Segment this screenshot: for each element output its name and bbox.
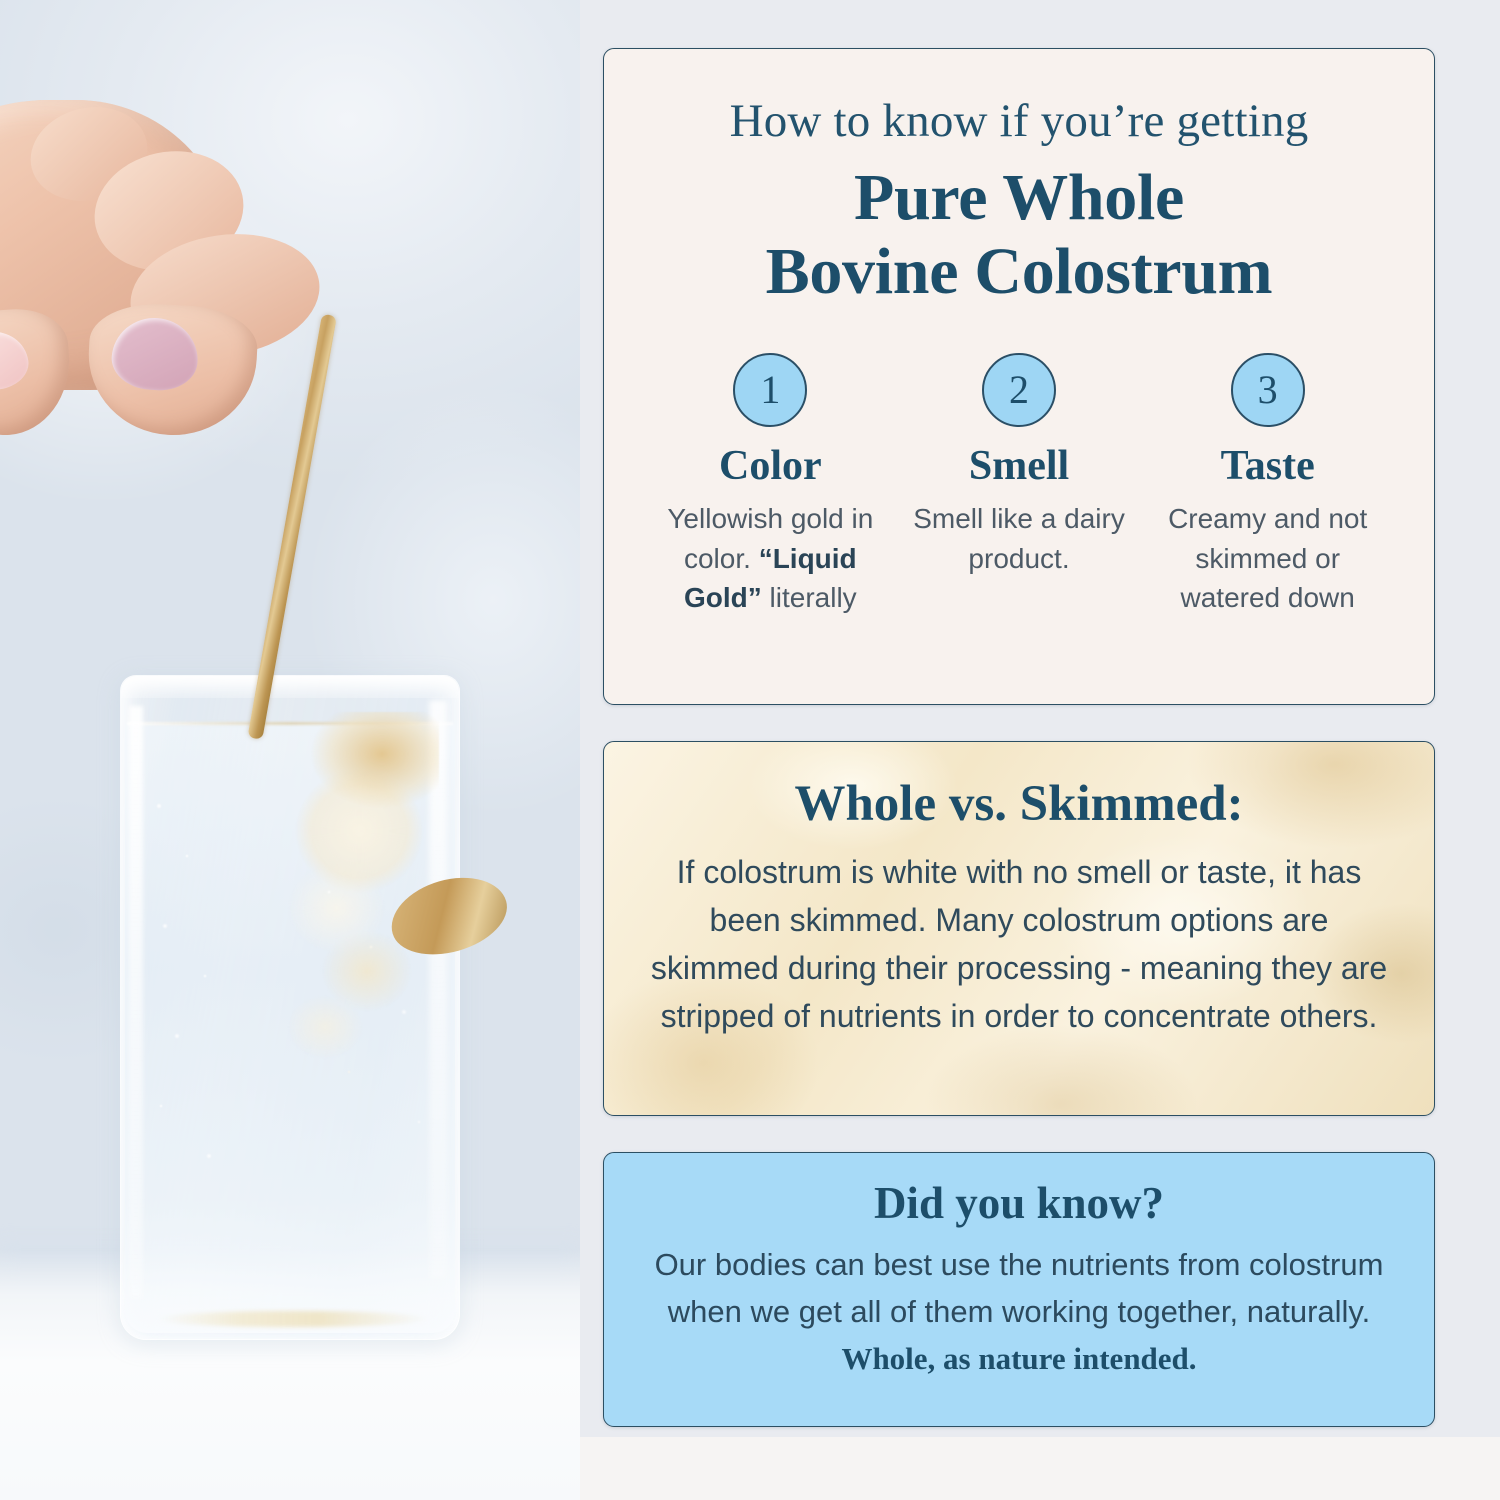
whole-vs-skimmed-title: Whole vs. Skimmed: <box>650 776 1388 832</box>
colostrum-powder-cloud <box>249 712 439 1062</box>
criteria-column-taste: 3 Taste Creamy and not skimmed or watere… <box>1143 353 1392 618</box>
criteria-column-smell: 2 Smell Smell like a dairy product. <box>895 353 1144 618</box>
criteria-body: Smell like a dairy product. <box>905 499 1134 579</box>
info-cards: How to know if you’re getting Pure Whole… <box>603 48 1435 1427</box>
did-you-know-body-pre: Our bodies can best use the nutrients fr… <box>655 1247 1384 1329</box>
criteria-title: Color <box>656 443 885 489</box>
criteria-body: Creamy and not skimmed or watered down <box>1153 499 1382 618</box>
criteria-column-color: 1 Color Yellowish gold in color. “Liquid… <box>646 353 895 618</box>
criteria-body-post: literally <box>762 582 857 613</box>
step-number-badge: 1 <box>733 353 807 427</box>
infographic-page: How to know if you’re getting Pure Whole… <box>0 0 1500 1500</box>
glass-highlight-left <box>129 706 143 1299</box>
glass-rim <box>121 676 459 698</box>
criteria-title: Smell <box>905 443 1134 489</box>
did-you-know-title: Did you know? <box>638 1179 1400 1229</box>
did-you-know-card: Did you know? Our bodies can best use th… <box>603 1152 1435 1427</box>
step-number-badge: 2 <box>982 353 1056 427</box>
whole-vs-skimmed-body: If colostrum is white with no smell or t… <box>650 848 1388 1040</box>
criteria-title: Taste <box>1153 443 1382 489</box>
headline-line-1: Pure Whole <box>634 161 1404 235</box>
main-info-card: How to know if you’re getting Pure Whole… <box>603 48 1435 705</box>
criteria-columns: 1 Color Yellowish gold in color. “Liquid… <box>634 353 1404 618</box>
footer-strip <box>580 1437 1500 1500</box>
whole-vs-skimmed-card: Whole vs. Skimmed: If colostrum is white… <box>603 741 1435 1116</box>
page-title: Pure Whole Bovine Colostrum <box>634 161 1404 309</box>
hand <box>0 60 300 430</box>
product-photo <box>0 0 580 1500</box>
step-number-badge: 3 <box>1231 353 1305 427</box>
drinking-glass <box>120 675 460 1340</box>
settled-powder <box>157 1311 429 1327</box>
did-you-know-body-emphasis: Whole, as nature intended. <box>841 1341 1196 1376</box>
eyebrow-text: How to know if you’re getting <box>634 97 1404 147</box>
criteria-body: Yellowish gold in color. “Liquid Gold” l… <box>656 499 885 618</box>
did-you-know-body: Our bodies can best use the nutrients fr… <box>638 1241 1400 1382</box>
headline-line-2: Bovine Colostrum <box>634 235 1404 309</box>
